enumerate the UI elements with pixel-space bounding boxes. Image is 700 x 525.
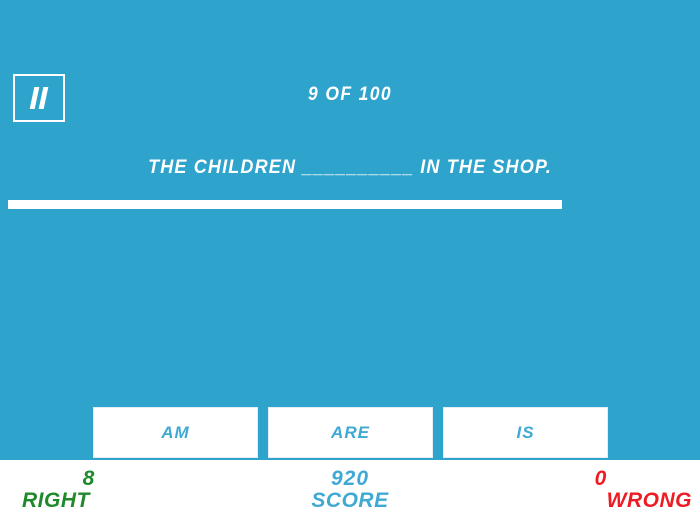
stat-wrong: 0 WRONG xyxy=(542,468,692,512)
stat-wrong-value: 0 xyxy=(542,468,692,490)
answer-button-1[interactable]: AM xyxy=(93,407,258,458)
timer-progress-fill xyxy=(8,200,562,209)
answer-button-2-label: ARE xyxy=(331,423,370,443)
stat-wrong-label: WRONG xyxy=(542,490,692,512)
answer-button-3-label: IS xyxy=(516,423,534,443)
stat-score: 920 SCORE xyxy=(275,468,425,512)
stat-score-value: 920 xyxy=(275,468,425,490)
answer-options: AM ARE IS xyxy=(93,407,608,458)
answer-button-1-label: AM xyxy=(161,423,189,443)
stat-right-value: 8 xyxy=(14,468,164,490)
timer-progress-track xyxy=(8,200,692,209)
play-area: 9 OF 100 THE CHILDREN __________ IN THE … xyxy=(0,0,700,460)
stat-right-label: RIGHT xyxy=(14,490,164,512)
question-counter: 9 OF 100 xyxy=(28,84,672,106)
game-screen: 9 OF 100 THE CHILDREN __________ IN THE … xyxy=(0,0,700,525)
answer-button-2[interactable]: ARE xyxy=(268,407,433,458)
question-sentence: THE CHILDREN __________ IN THE SHOP. xyxy=(18,157,683,179)
stat-right: 8 RIGHT xyxy=(14,468,164,512)
stats-footer: 8 RIGHT 920 SCORE 0 WRONG xyxy=(0,460,700,525)
stat-score-label: SCORE xyxy=(275,490,425,512)
answer-button-3[interactable]: IS xyxy=(443,407,608,458)
